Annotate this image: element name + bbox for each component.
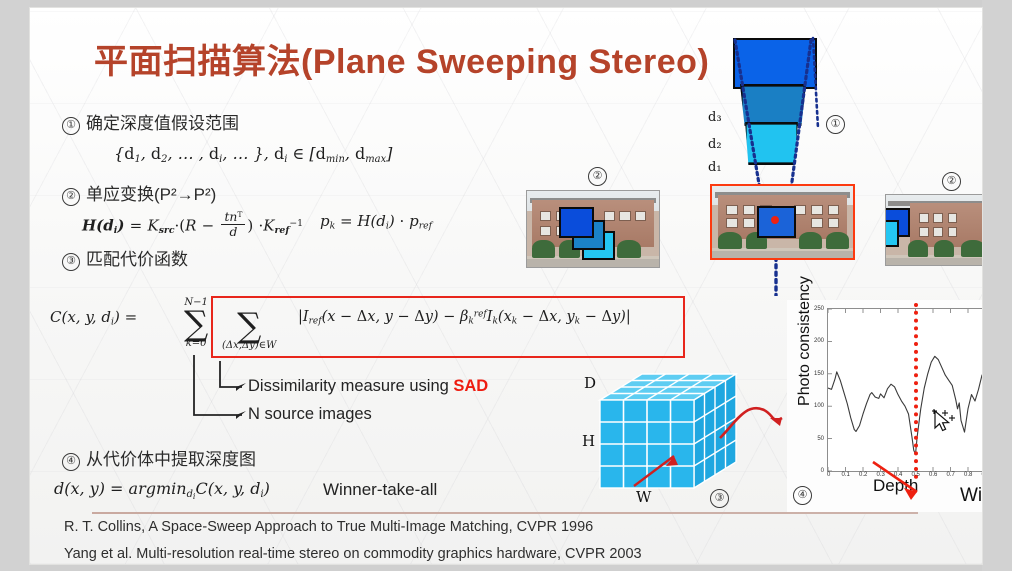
formula-homography: H(di) = Ksrc·(R − tnTd) ·Kref−1: [82, 210, 303, 239]
annotation-dissimilarity: Dissimilarity measure using SAD: [248, 377, 488, 396]
annotation-sad-label: SAD: [453, 377, 488, 395]
step-4-heading: ④从代价体中提取深度图: [62, 445, 256, 471]
chart-y-tick: 0: [807, 468, 824, 474]
winner-arrow: [865, 460, 975, 508]
cube-label-height: H: [582, 432, 595, 450]
photo-window: [828, 205, 840, 215]
photo-window: [948, 213, 958, 223]
photo-window: [919, 227, 929, 237]
photo-window: [933, 213, 943, 223]
chart-plot-area: [827, 308, 982, 472]
photo-window: [604, 211, 615, 221]
formula-sum-inner: ∑(Δx,Δy)∈W: [220, 300, 278, 351]
reference-center-dot: [771, 216, 779, 224]
formula-sum-outer: N−1∑k=0: [182, 298, 210, 349]
formula-argmin: d(x, y) = argmindiC(x, y, di): [54, 479, 270, 501]
step-3-label: 匹配代价函数: [86, 250, 188, 269]
photo-bush: [799, 232, 822, 249]
photo-bush: [826, 232, 849, 249]
photo-bush: [908, 240, 928, 257]
step-1-label: 确定深度值假设范围: [86, 114, 239, 133]
photo-window: [948, 227, 958, 237]
source-photo-left-callout: ②: [588, 166, 607, 186]
photo-window: [540, 211, 551, 221]
photo-window: [919, 213, 929, 223]
chart-y-tick: 200: [807, 338, 824, 344]
chart-y-tick: 100: [807, 403, 824, 409]
formula-depth-set: {d1, d2, … , di, … }, di ∈ [dmin, dmax]: [114, 144, 392, 165]
photo-bush: [718, 232, 742, 249]
formula-point-map: pk = H(di) · pref: [320, 212, 432, 232]
photo-bush: [617, 240, 641, 258]
photo-window: [743, 218, 755, 228]
photo-window: [743, 205, 755, 215]
photo-window: [635, 211, 646, 221]
reference-2: Yang et al. Multi-resolution real-time s…: [64, 546, 642, 562]
source-photo-right-callout: ②: [942, 171, 961, 191]
step-4-marker: ④: [62, 453, 80, 471]
chart-callout: ④: [793, 485, 812, 505]
source-photo-right: [885, 194, 982, 266]
chart-y-tick: 50: [807, 436, 824, 442]
cube-callout: ③: [710, 488, 729, 508]
step-3-heading: ③匹配代价函数: [62, 245, 188, 271]
chart-x-tick: 0: [827, 472, 830, 478]
formula-cost-body: |Iref(x − Δx, y − Δy) − βkrefIk(xk − Δx,…: [298, 309, 631, 327]
frustum-callout: ①: [826, 114, 845, 134]
step-2-label: 单应变换(P²→P²): [86, 185, 216, 204]
photo-bush: [961, 240, 982, 257]
photo-window: [811, 205, 823, 215]
reference-1: R. T. Collins, A Space-Sweep Approach to…: [64, 519, 593, 535]
source-photo-left: [526, 190, 660, 268]
warped-patch-far: [559, 207, 595, 238]
warped-patch-near: [885, 220, 899, 247]
photo-window: [619, 211, 630, 221]
annotation-n-source-images: N source images: [248, 405, 372, 424]
chart-x-tick: 0.9: [982, 472, 983, 478]
depth-label-d2: d₂: [708, 137, 722, 152]
mouse-cursor: [932, 409, 960, 437]
photo-window: [540, 226, 551, 236]
cost-function-highlight-box: [211, 296, 685, 358]
winner-marker-line: [914, 303, 918, 479]
chart-y-tick: 250: [807, 306, 824, 312]
chart-y-tick: 150: [807, 371, 824, 377]
step-4-label: 从代价体中提取深度图: [86, 450, 256, 469]
winner-label: Winner: [960, 485, 982, 507]
slide-canvas: 平面扫描算法(Plane Sweeping Stereo) ①确定深度值假设范围…: [30, 8, 982, 564]
photo-bush: [532, 240, 554, 258]
photo-bush: [934, 240, 954, 257]
formula-cost-lhs: C(x, y, di) =: [50, 308, 137, 328]
photo-window: [726, 205, 738, 215]
annotation-dissimilarity-prefix: Dissimilarity measure using: [248, 377, 453, 395]
chart-x-tick: 0.1: [842, 472, 850, 478]
footer-divider: [92, 512, 918, 514]
step-1-heading: ①确定深度值假设范围: [62, 109, 239, 135]
step-2-marker: ②: [62, 188, 80, 206]
right-gutter: [982, 0, 1012, 571]
left-gutter: [0, 0, 30, 571]
photo-consistency-chart: Photo consistency 00.10.20.30.40.50.60.7…: [787, 300, 982, 512]
winner-take-all-label: Winner-take-all: [323, 480, 437, 500]
photo-window: [726, 218, 738, 228]
cube-to-chart-arrow: [718, 396, 796, 444]
chart-curve: [828, 309, 982, 471]
reference-photo: [710, 184, 855, 260]
page-title: 平面扫描算法(Plane Sweeping Stereo): [94, 34, 709, 83]
depth-label-d1: d₁: [708, 160, 722, 175]
step-3-marker: ③: [62, 253, 80, 271]
cube-label-depth: D: [584, 374, 596, 392]
photo-window: [828, 218, 840, 228]
photo-window: [933, 227, 943, 237]
depth-label-d3: d₃: [708, 110, 722, 125]
photo-window: [811, 218, 823, 228]
cube-label-width: W: [636, 488, 651, 506]
step-2-heading: ②单应变换(P²→P²): [62, 180, 216, 206]
step-1-marker: ①: [62, 117, 80, 135]
